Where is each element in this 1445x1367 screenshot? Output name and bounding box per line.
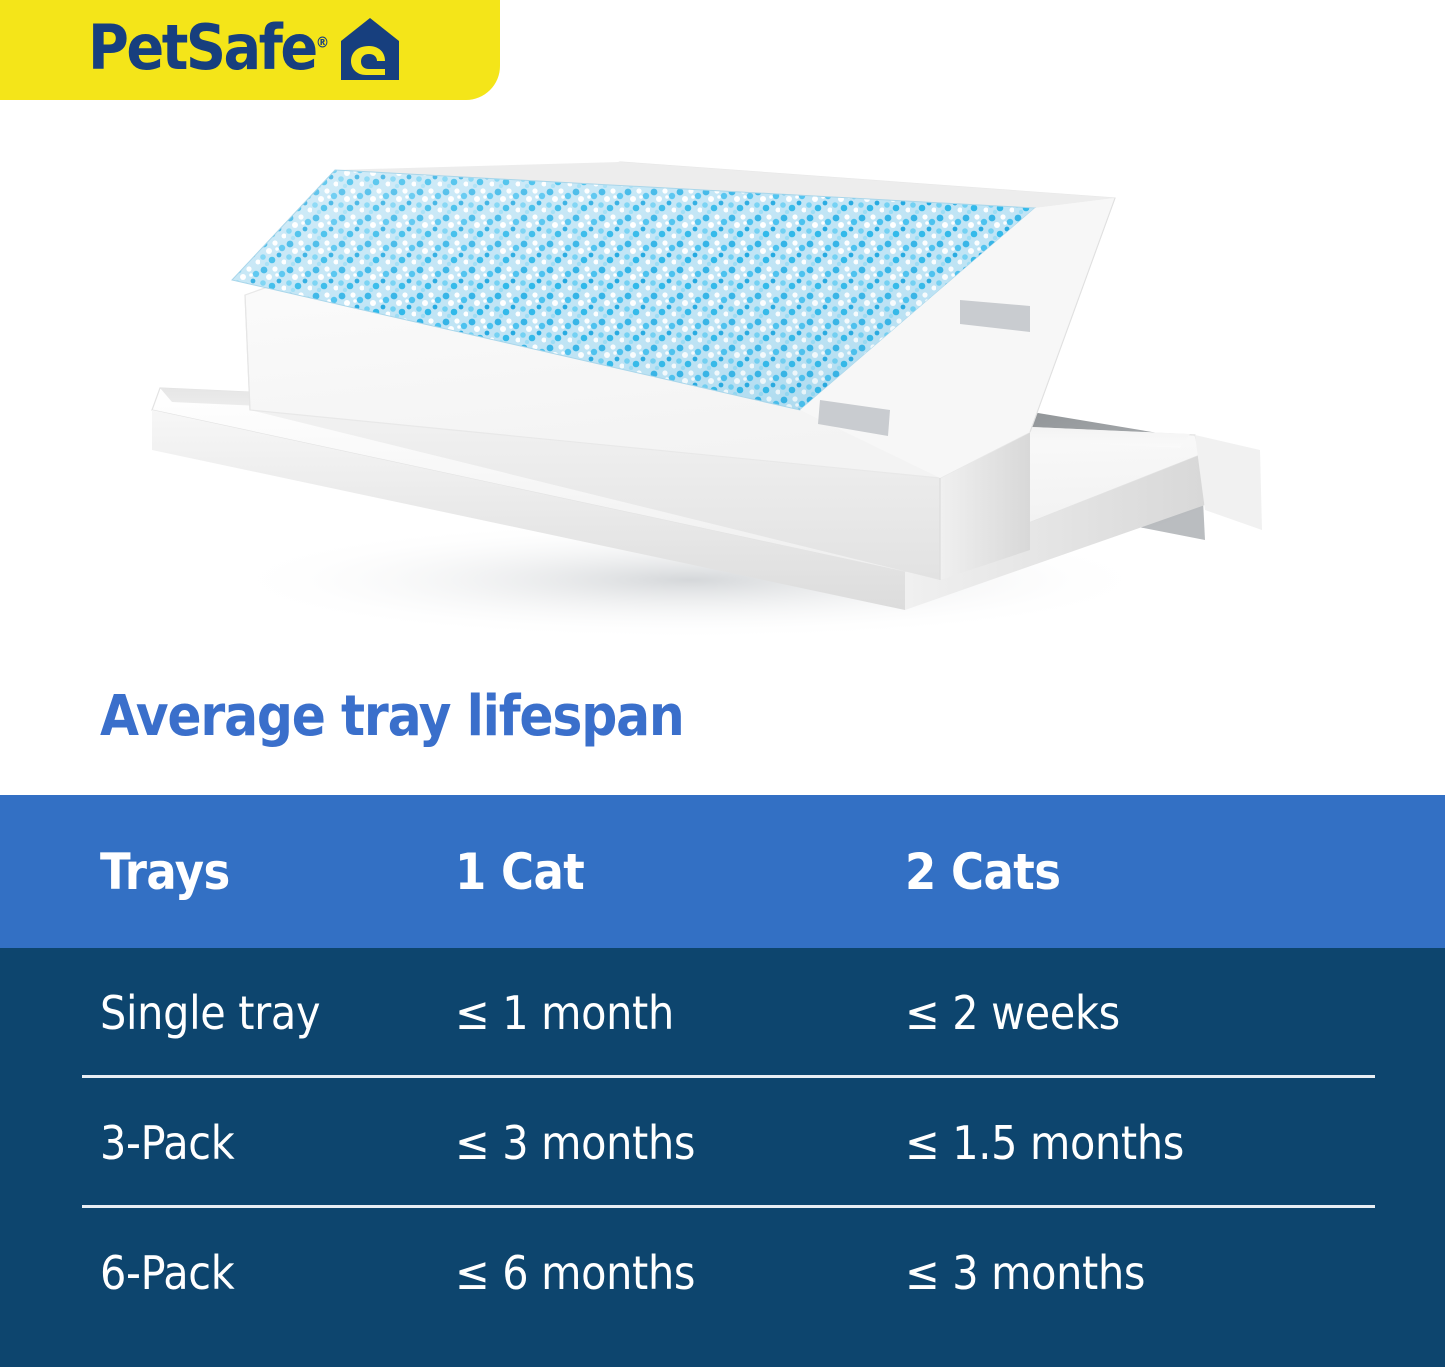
brand-logo-badge: PetSafe® (0, 0, 500, 100)
column-header-one-cat: 1 Cat (455, 843, 584, 901)
cell-two-cats: ≤ 3 months (905, 1246, 1145, 1300)
cell-two-cats: ≤ 1.5 months (905, 1116, 1184, 1170)
litter-tray-stack-photo (0, 110, 1445, 670)
table-row: Single tray ≤ 1 month ≤ 2 weeks (0, 948, 1445, 1078)
column-header-trays: Trays (100, 843, 230, 901)
brand-logo: PetSafe® (88, 14, 401, 82)
cell-trays: Single tray (100, 986, 320, 1040)
cell-trays: 6-Pack (100, 1246, 234, 1300)
cell-one-cat: ≤ 3 months (455, 1116, 695, 1170)
section-heading: Average tray lifespan (100, 688, 684, 747)
table-body: Single tray ≤ 1 month ≤ 2 weeks 3-Pack ≤… (0, 948, 1445, 1367)
product-infographic-page: PetSafe® (0, 0, 1445, 1367)
cell-trays: 3-Pack (100, 1116, 234, 1170)
registered-trademark-symbol: ® (316, 33, 330, 51)
tray-lifespan-table: Trays 1 Cat 2 Cats Single tray ≤ 1 month… (0, 795, 1445, 1367)
brand-wordmark: PetSafe® (88, 17, 329, 79)
cell-one-cat: ≤ 1 month (455, 986, 674, 1040)
table-header-row: Trays 1 Cat 2 Cats (0, 795, 1445, 948)
table-row: 3-Pack ≤ 3 months ≤ 1.5 months (0, 1078, 1445, 1208)
cell-two-cats: ≤ 2 weeks (905, 986, 1120, 1040)
table-row: 6-Pack ≤ 6 months ≤ 3 months (0, 1208, 1445, 1355)
table-header: Trays 1 Cat 2 Cats (0, 795, 1445, 948)
column-header-two-cats: 2 Cats (905, 843, 1061, 901)
cell-one-cat: ≤ 6 months (455, 1246, 695, 1300)
petsafe-house-icon (339, 16, 401, 82)
